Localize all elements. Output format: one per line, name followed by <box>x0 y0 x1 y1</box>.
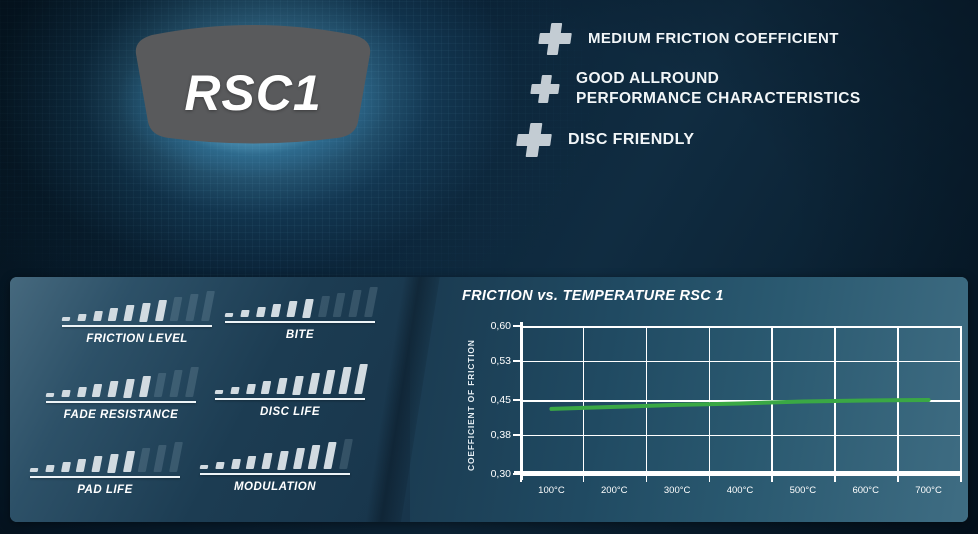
rating-bar <box>339 367 352 394</box>
chart-series-line <box>520 326 960 474</box>
rating-bar <box>323 370 336 394</box>
rating-bar <box>308 373 320 394</box>
rating-bars <box>215 362 365 394</box>
chart-x-tick-label: 300°C <box>664 485 691 496</box>
rating-bar <box>231 459 241 469</box>
chart-series-0 <box>551 400 928 409</box>
chart-x-tick <box>709 474 711 482</box>
rating-bar <box>225 313 234 317</box>
plus-icon <box>513 122 554 158</box>
chart-x-tick-label: 600°C <box>852 485 879 496</box>
rating-underline <box>215 398 365 400</box>
chart-x-tick-label: 500°C <box>790 485 817 496</box>
rating-bar <box>45 465 54 472</box>
rating-bar <box>277 378 288 394</box>
chart-x-tick <box>583 474 585 482</box>
rating-bar <box>318 296 330 317</box>
chart-x-tick <box>646 474 648 482</box>
chart-gridline-h <box>520 474 960 476</box>
rating-bar <box>246 456 256 469</box>
chart-x-tick-label: 200°C <box>601 485 628 496</box>
rating-bar <box>62 317 71 321</box>
logo-text: RSC1 <box>118 64 388 122</box>
rating-underline <box>200 473 350 475</box>
rating-bar <box>139 376 151 397</box>
chart-plot-area: 0,600,530,450,380,30100°C200°C300°C400°C… <box>520 326 960 474</box>
rating-bar <box>293 448 305 469</box>
rating-bar <box>186 294 199 321</box>
rating-underline <box>46 401 196 403</box>
chart-y-tick-label: 0,45 <box>491 394 511 406</box>
rating-bar <box>262 453 273 469</box>
rating-bar <box>30 468 39 472</box>
rating-bar <box>324 442 337 469</box>
rating-bar <box>292 376 304 395</box>
rating-label: BITE <box>225 329 375 341</box>
rating-bar <box>287 301 298 317</box>
feature-list: MEDIUM FRICTION COEFFICIENT GOOD ALLROUN… <box>530 22 960 171</box>
rating-meter: DISC LIFE <box>215 362 365 418</box>
rating-bar <box>61 390 70 397</box>
rating-bar <box>124 305 135 321</box>
rating-bar <box>302 299 314 318</box>
rating-meter: FADE RESISTANCE <box>46 365 196 421</box>
rating-bar <box>154 445 167 472</box>
chart-gridline-v <box>960 326 962 474</box>
chart-x-tick <box>960 474 962 482</box>
rating-bar <box>139 303 151 322</box>
feature-item-0: MEDIUM FRICTION COEFFICIENT <box>538 22 960 56</box>
chart-y-axis-label: COEFFICIENT OF FRICTION <box>466 330 476 480</box>
rating-label: MODULATION <box>200 481 350 493</box>
rating-underline <box>62 325 212 327</box>
chart-x-tick <box>771 474 773 482</box>
chart-y-tick <box>513 325 521 327</box>
rating-bars <box>30 440 180 472</box>
rating-bar <box>138 448 151 472</box>
chart-title: FRICTION vs. TEMPERATURE RSC 1 <box>462 288 724 304</box>
chart-y-tick-label: 0,60 <box>491 320 511 332</box>
chart-x-tick-label: 100°C <box>538 485 565 496</box>
rating-bar <box>277 451 289 470</box>
chart-y-tick <box>513 399 521 401</box>
rating-bar <box>246 384 256 394</box>
rating-underline <box>225 321 375 323</box>
friction-temperature-chart: FRICTION vs. TEMPERATURE RSC 1 COEFFICIE… <box>462 284 962 516</box>
plus-icon <box>536 22 575 56</box>
rating-bar <box>215 390 224 394</box>
feature-item-1: GOOD ALLROUND PERFORMANCE CHARACTERISTIC… <box>530 69 960 109</box>
rating-bar <box>333 293 346 317</box>
rating-bar <box>108 381 119 397</box>
rating-bar <box>155 300 167 321</box>
feature-label: GOOD ALLROUND PERFORMANCE CHARACTERISTIC… <box>576 69 861 109</box>
chart-x-tick <box>897 474 899 482</box>
rating-bar <box>77 314 86 321</box>
rating-bar <box>92 384 102 397</box>
rating-bar <box>261 381 271 394</box>
rating-bar <box>271 304 281 317</box>
chart-x-tick-label: 700°C <box>915 485 942 496</box>
rating-bar <box>108 308 118 321</box>
chart-y-tick-label: 0,30 <box>491 468 511 480</box>
rating-label: FRICTION LEVEL <box>62 333 212 345</box>
chart-x-tick <box>520 474 522 482</box>
rating-bars <box>62 289 212 321</box>
rating-bar <box>92 456 103 472</box>
rating-label: PAD LIFE <box>30 484 180 496</box>
chart-y-tick-label: 0,38 <box>491 429 511 441</box>
rating-bar <box>154 373 167 397</box>
rating-bar <box>170 297 183 321</box>
rating-underline <box>30 476 180 478</box>
rating-meter: FRICTION LEVEL <box>62 289 212 345</box>
rating-bar <box>123 451 135 472</box>
feature-label: DISC FRIENDLY <box>568 130 694 150</box>
rating-bars <box>200 437 350 469</box>
chart-y-tick <box>513 434 521 436</box>
rating-bar <box>61 462 71 472</box>
rating-bar <box>308 445 321 469</box>
spec-panel: FRICTION LEVELBITEFADE RESISTANCEDISC LI… <box>10 277 968 522</box>
rating-bars <box>46 365 196 397</box>
rating-bar <box>77 387 87 397</box>
chart-x-tick-label: 400°C <box>727 485 754 496</box>
feature-label: MEDIUM FRICTION COEFFICIENT <box>588 29 839 49</box>
product-logo: RSC1 <box>118 18 388 173</box>
rating-bar <box>256 307 266 317</box>
rating-bar <box>200 465 209 469</box>
rating-bar <box>170 370 183 397</box>
chart-y-tick-label: 0,53 <box>491 355 511 367</box>
feature-item-2: DISC FRIENDLY <box>516 122 960 158</box>
rating-bar <box>107 454 119 473</box>
rating-bar <box>349 290 362 317</box>
plus-icon <box>528 74 562 104</box>
rating-bar <box>123 379 135 398</box>
rating-meter: PAD LIFE <box>30 440 180 496</box>
rating-bar <box>46 393 55 397</box>
rating-bar <box>215 462 224 469</box>
rating-meter: MODULATION <box>200 437 350 493</box>
rating-bar <box>76 459 86 472</box>
rating-bar <box>230 387 239 394</box>
rating-bar <box>93 311 103 321</box>
rating-meter: BITE <box>225 285 375 341</box>
rating-label: DISC LIFE <box>215 406 365 418</box>
rating-bar <box>240 310 249 317</box>
chart-x-tick <box>834 474 836 482</box>
rating-bars <box>225 285 375 317</box>
chart-y-tick <box>513 360 521 362</box>
rating-label: FADE RESISTANCE <box>46 409 196 421</box>
